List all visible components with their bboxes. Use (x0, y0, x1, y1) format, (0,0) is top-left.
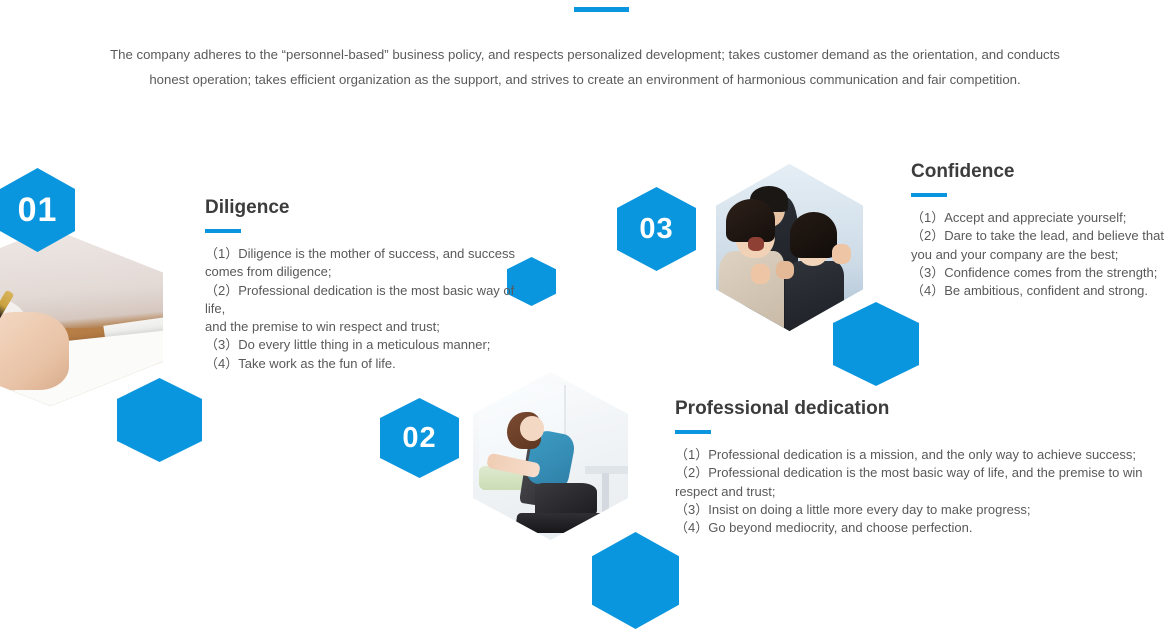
section-title: Confidence (911, 160, 1169, 184)
person-main-mouth (748, 237, 764, 250)
top-accent-bar (574, 7, 629, 12)
chair-seat-shape (535, 483, 597, 517)
section-title: Diligence (205, 196, 525, 220)
person-right-hair (790, 212, 837, 257)
head-shape (520, 416, 545, 441)
section-professional-dedication: Professional dedication （1）Professional … (675, 397, 1155, 537)
raised-fist-right (832, 244, 851, 264)
infographic-canvas: The company adheres to the “personnel-ba… (0, 0, 1170, 631)
title-underline-rule (205, 229, 241, 233)
title-underline-rule (911, 193, 947, 197)
title-underline-rule (675, 430, 711, 434)
section-title: Professional dedication (675, 397, 1155, 421)
person-right-body (785, 261, 844, 331)
decorative-hexagon-bottom (592, 532, 679, 629)
decorative-hexagon-left (117, 378, 202, 462)
section-confidence: Confidence （1）Accept and appreciate your… (911, 160, 1169, 300)
raised-fist-center (776, 261, 794, 279)
step-number-badge-03: 03 (617, 187, 696, 271)
person-main-hair (726, 199, 775, 242)
hand-shape (0, 312, 69, 390)
section-body: （1）Accept and appreciate yourself; （2）Da… (911, 209, 1169, 300)
raised-fist-left (751, 264, 770, 284)
person-main-body (719, 251, 784, 331)
section-diligence: Diligence （1）Diligence is the mother of … (205, 196, 525, 373)
woman-stretching-in-office-chair-photo (473, 372, 628, 540)
step-number-badge-02: 02 (380, 398, 459, 478)
step-number-label: 01 (18, 191, 58, 230)
hand-writing-photo (0, 228, 163, 406)
step-number-label: 03 (639, 213, 673, 246)
decorative-hexagon-right (833, 302, 919, 386)
section-body: （1）Professional dedication is a mission,… (675, 446, 1155, 537)
desk-leg-shape (602, 473, 610, 513)
intro-paragraph: The company adheres to the “personnel-ba… (105, 42, 1065, 92)
cheering-business-team-photo (716, 164, 863, 331)
step-number-label: 02 (402, 422, 436, 455)
chair-base-shape (515, 513, 605, 533)
section-body: （1）Diligence is the mother of success, a… (205, 245, 525, 373)
